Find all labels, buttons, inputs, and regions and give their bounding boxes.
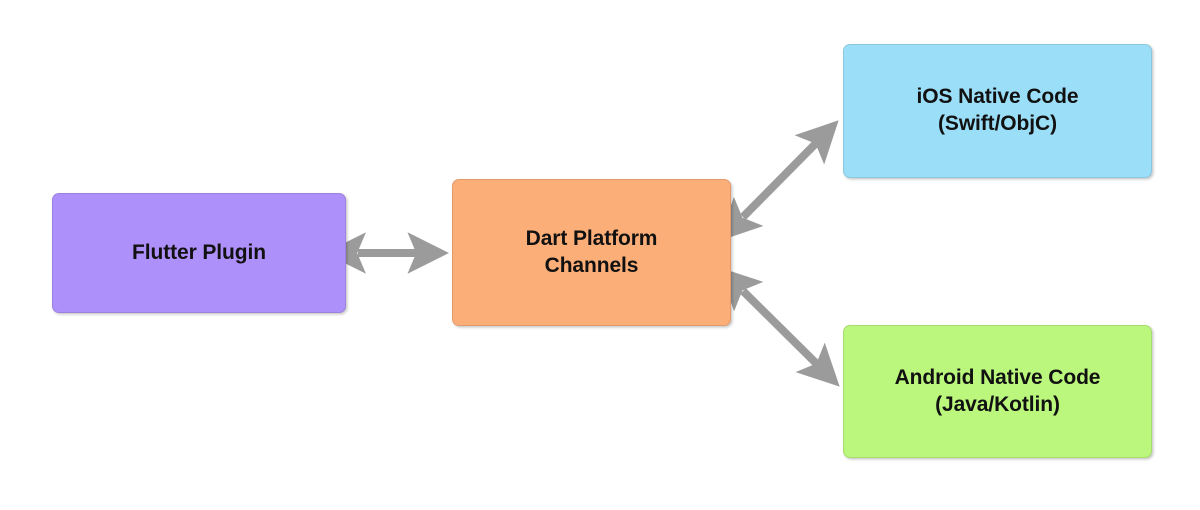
node-android-native-code-label: Android Native Code (Java/Kotlin) [895,365,1101,419]
node-ios-native-code-label: iOS Native Code (Swift/ObjC) [917,84,1079,138]
diagram-canvas: Flutter Plugin Dart Platform Channels iO… [0,0,1200,510]
node-flutter-plugin[interactable]: Flutter Plugin [52,193,346,313]
node-dart-platform-channels-label: Dart Platform Channels [526,226,658,280]
node-dart-platform-channels[interactable]: Dart Platform Channels [452,179,731,326]
edge-dart-platform-channels-to-ios-native-code [743,126,833,217]
node-android-native-code[interactable]: Android Native Code (Java/Kotlin) [843,325,1152,458]
edge-dart-platform-channels-to-android-native-code [743,291,834,381]
node-ios-native-code[interactable]: iOS Native Code (Swift/ObjC) [843,44,1152,178]
node-flutter-plugin-label: Flutter Plugin [132,240,266,267]
